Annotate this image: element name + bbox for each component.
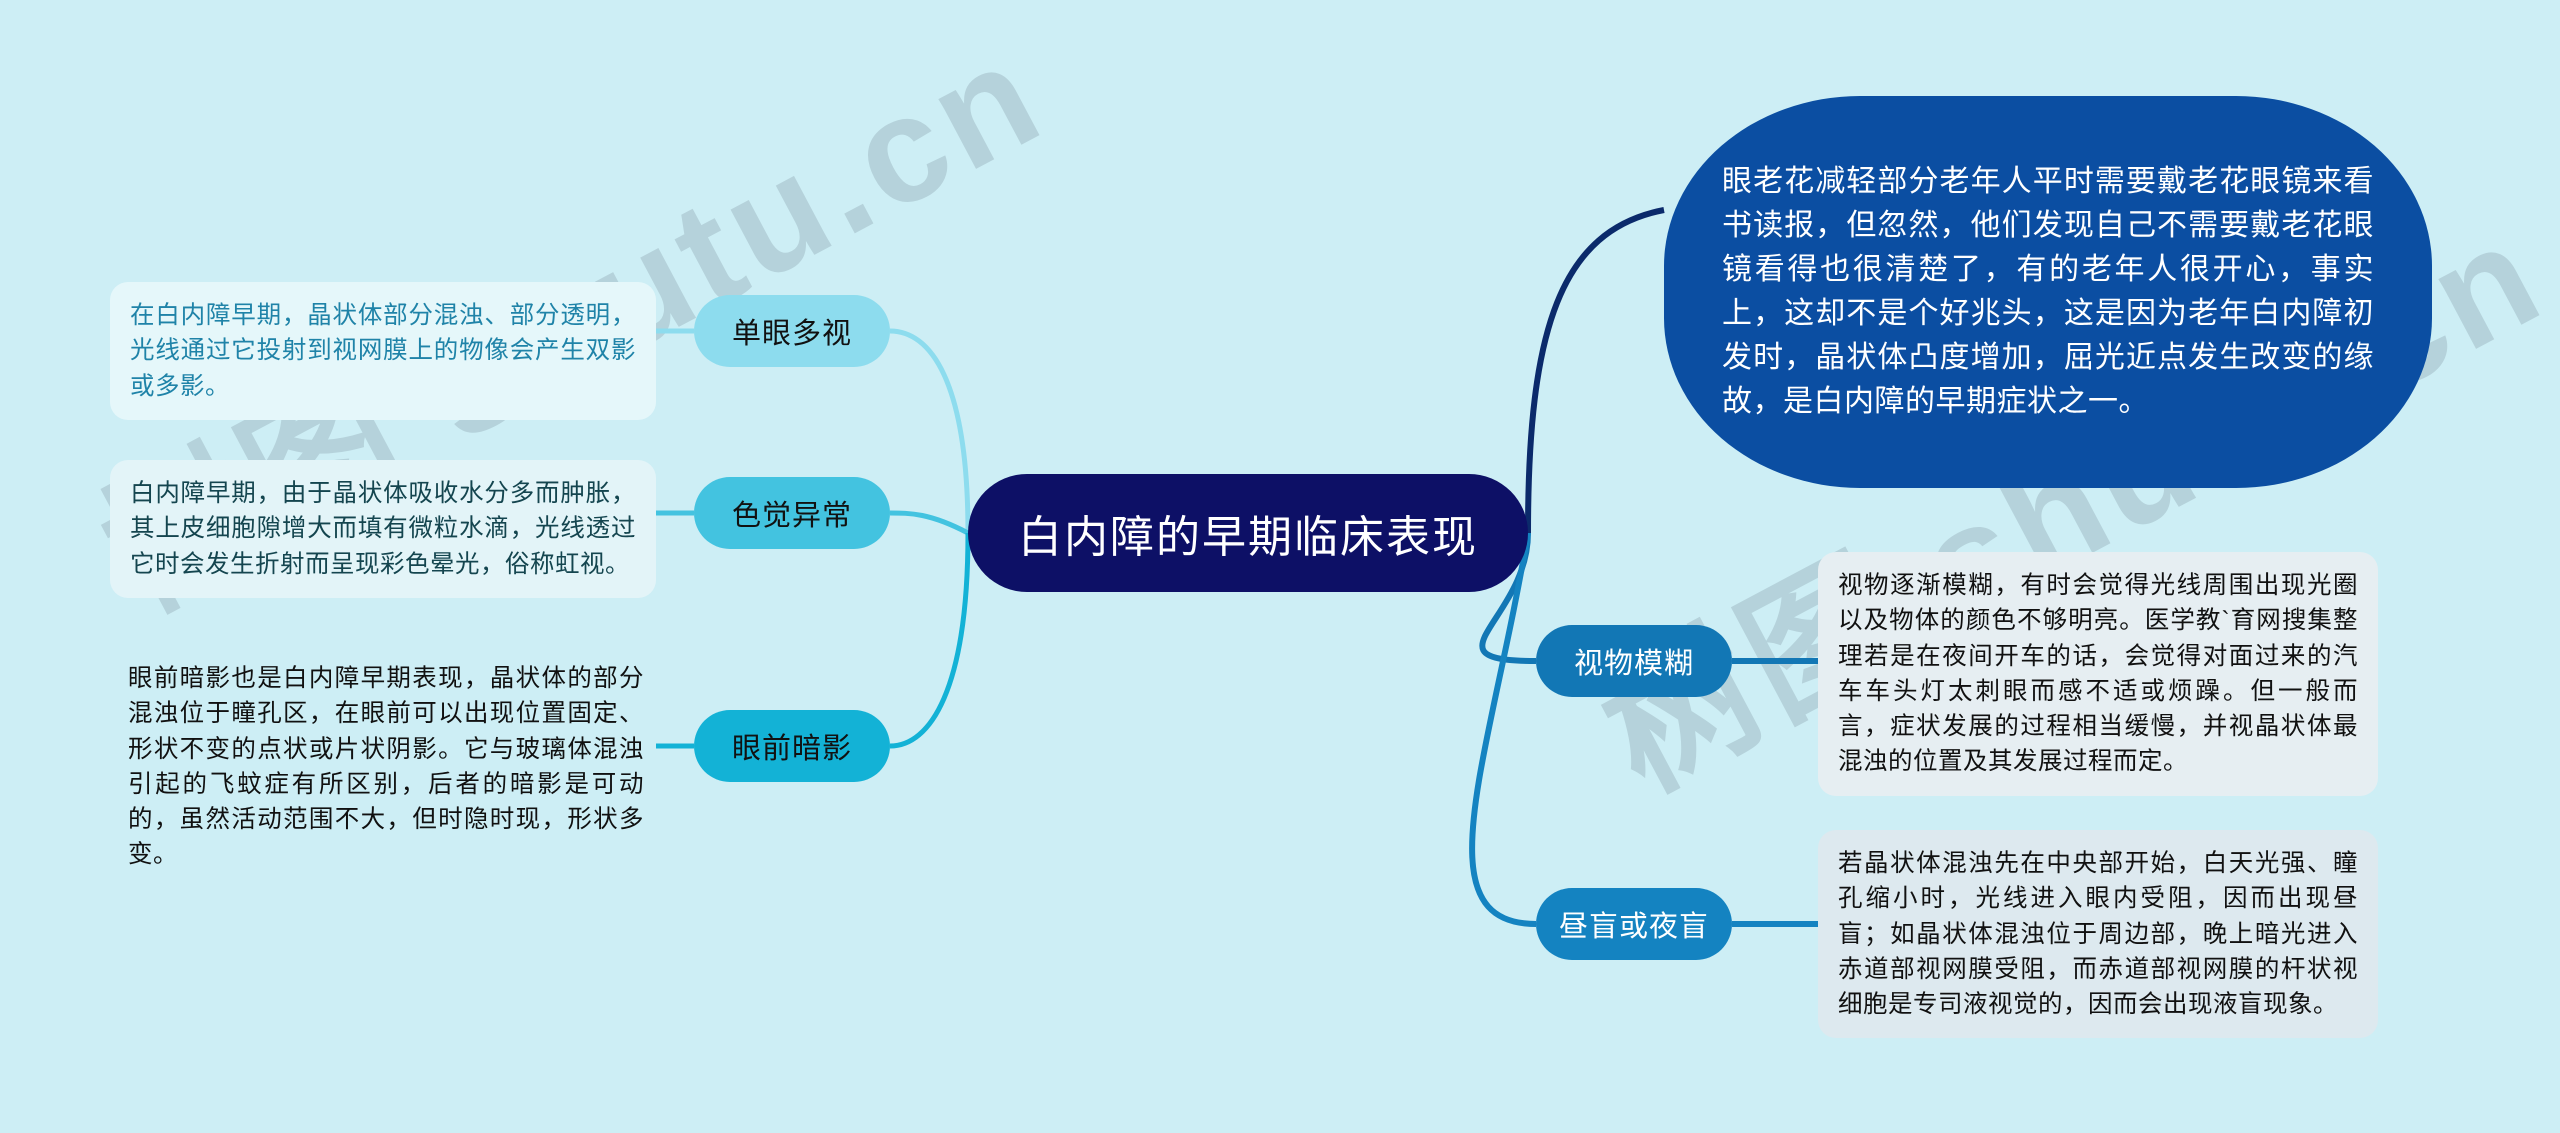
detail-card-zhoumangyeming: 若晶状体混浊先在中央部开始，白天光强、瞳孔缩小时，光线进入眼内受阻，因而出现昼盲… bbox=[1818, 830, 2378, 1038]
root-node[interactable]: 白内障的早期临床表现 bbox=[968, 474, 1528, 592]
detail-card-shiwumohu: 视物逐渐模糊，有时会觉得光线周围出现光圈以及物体的颜色不够明亮。医学教`育网搜集… bbox=[1818, 552, 2378, 796]
link-sjyc bbox=[890, 513, 968, 533]
link-zmym bbox=[1472, 533, 1536, 924]
branch-node-danyanduoshi[interactable]: 单眼多视 bbox=[694, 295, 890, 367]
branch-node-sejueyichang[interactable]: 色觉异常 bbox=[694, 477, 890, 549]
branch-node-yanqiananying[interactable]: 眼前暗影 bbox=[694, 710, 890, 782]
link-yqay bbox=[890, 533, 968, 746]
detail-note-laohua: 眼老花减轻部分老年人平时需要戴老花眼镜来看书读报，但忽然，他们发现自己不需要戴老… bbox=[1664, 96, 2432, 488]
mindmap-canvas: 树图 shutu.cn 树图 shutu.cn 白内障的早期临床表现 单眼多视 … bbox=[0, 0, 2560, 1133]
detail-card-danyanduoshi: 在白内障早期，晶状体部分混浊、部分透明，光线通过它投射到视网膜上的物像会产生双影… bbox=[110, 282, 656, 420]
detail-card-sejueyichang: 白内障早期，由于晶状体吸收水分多而肿胀，其上皮细胞隙增大而填有微粒水滴，光线透过… bbox=[110, 460, 656, 598]
branch-node-shiwumohu[interactable]: 视物模糊 bbox=[1536, 625, 1732, 697]
link-note bbox=[1528, 210, 1664, 533]
link-dyds bbox=[890, 331, 968, 533]
detail-card-yanqiananying: 眼前暗影也是白内障早期表现，晶状体的部分混浊位于瞳孔区，在眼前可以出现位置固定、… bbox=[108, 645, 664, 889]
branch-node-zhoumangyeming[interactable]: 昼盲或夜盲 bbox=[1536, 888, 1732, 960]
